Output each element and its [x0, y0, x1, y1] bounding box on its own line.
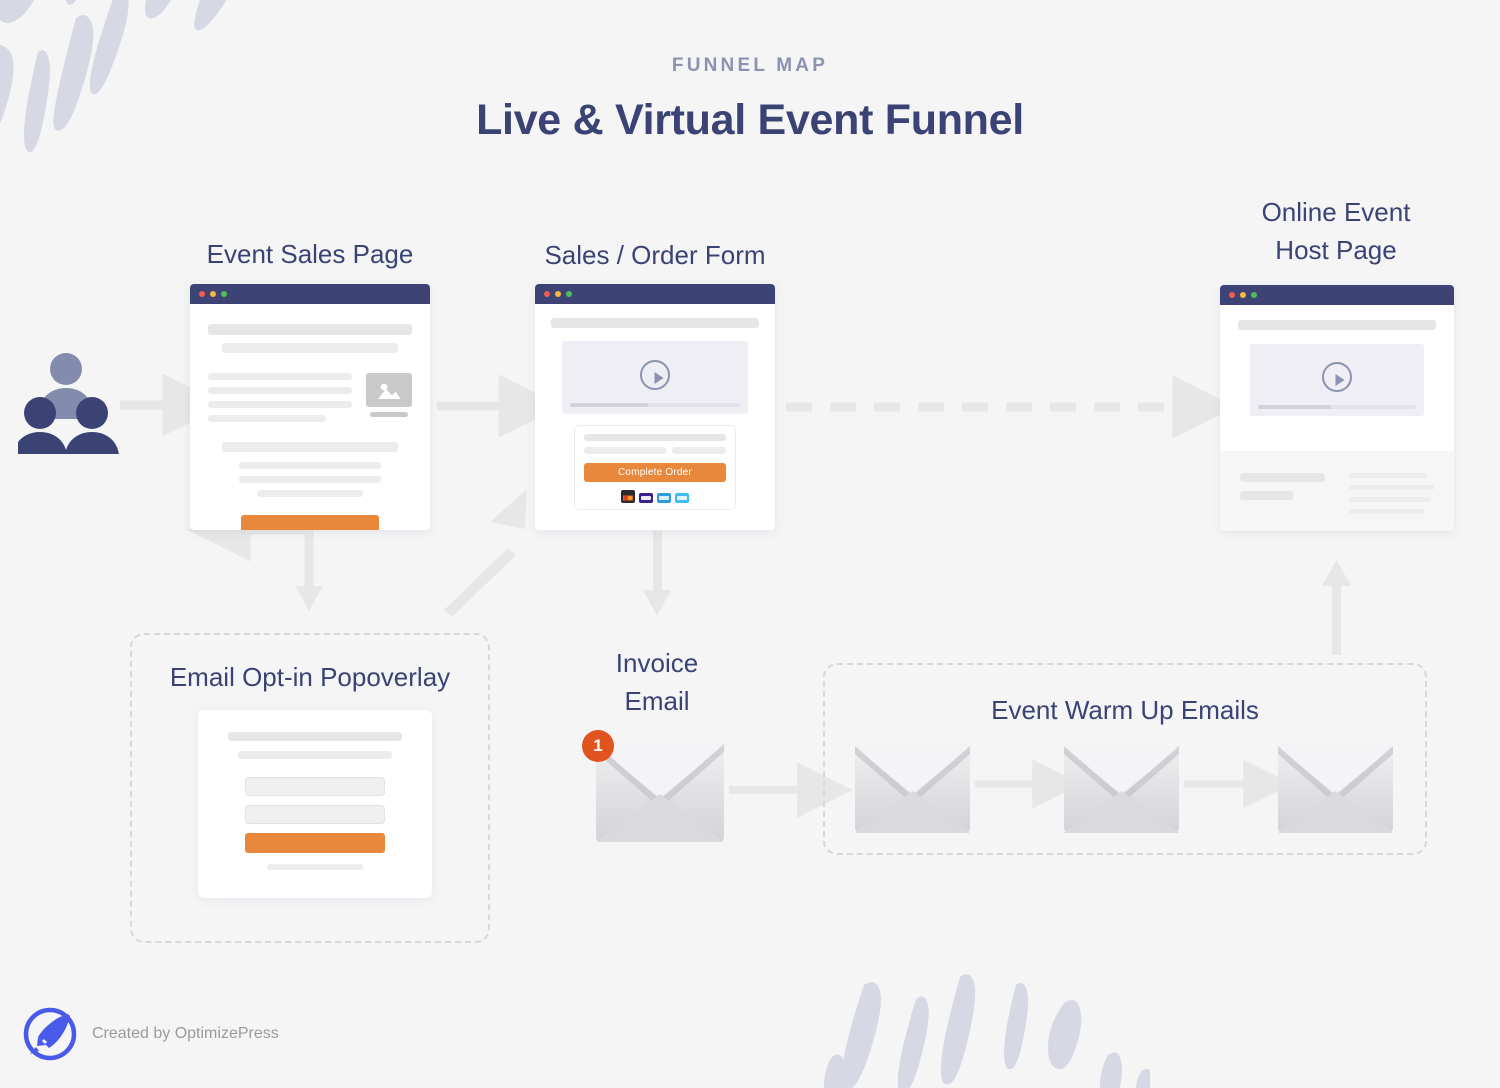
caption-placeholder: [370, 412, 408, 417]
subheadline-placeholder: [222, 343, 397, 353]
invoice-email-badge: 1: [582, 730, 614, 762]
email-optin-popoverlay-label: Email Opt-in Popoverlay: [130, 662, 490, 693]
popup-subheadline-placeholder: [238, 751, 391, 759]
name-field[interactable]: [245, 777, 386, 796]
payment-method-icons: [584, 490, 726, 500]
headline-placeholder: [551, 318, 759, 328]
video-progress-track[interactable]: [1258, 405, 1416, 409]
arrow-order-form-to-invoice-email: [643, 531, 671, 616]
browser-titlebar: [535, 284, 775, 304]
text-line: [208, 373, 352, 380]
green-dot-icon: [1251, 292, 1257, 298]
people-icon: [18, 352, 126, 454]
video-progress-fill: [1258, 405, 1331, 409]
yellow-dot-icon: [1240, 292, 1246, 298]
paypal-icon: [675, 490, 689, 500]
invoice-email-envelope[interactable]: [596, 742, 724, 842]
play-triangle-icon: [1336, 374, 1345, 386]
email-field[interactable]: [245, 805, 386, 824]
section-heading-placeholder: [222, 442, 397, 452]
order-field: [672, 447, 727, 454]
text-line: [239, 462, 382, 469]
invoice-email-label-line2: Email: [557, 683, 757, 721]
browser-content: Complete Order: [535, 304, 775, 524]
yellow-dot-icon: [555, 291, 561, 297]
host-page-label-line1: Online Event: [1186, 194, 1486, 232]
green-dot-icon: [221, 291, 227, 297]
invoice-email-label: Invoice Email: [557, 645, 757, 720]
footer: Created by OptimizePress: [22, 1006, 279, 1062]
amex-icon: [657, 490, 671, 500]
text-line: [257, 490, 363, 497]
page-title: Live & Virtual Event Funnel: [0, 96, 1500, 145]
order-summary-card: Complete Order: [574, 425, 736, 510]
footer-line: [1240, 491, 1293, 500]
order-field: [584, 447, 666, 454]
privacy-note-placeholder: [267, 864, 363, 870]
host-page-label-line2: Host Page: [1186, 232, 1486, 270]
online-event-host-page-label: Online Event Host Page: [1186, 194, 1486, 269]
footer-line: [1349, 473, 1427, 478]
cta-button[interactable]: [241, 515, 380, 530]
event-sales-page-browser-mockup[interactable]: [190, 284, 430, 530]
footer-credit: Created by OptimizePress: [92, 1025, 279, 1043]
mastercard-icon: [621, 490, 635, 500]
warm-up-email-3[interactable]: [1278, 745, 1393, 833]
red-dot-icon: [1229, 292, 1235, 298]
event-sales-page-label: Event Sales Page: [160, 236, 460, 274]
footer-line: [1349, 497, 1431, 502]
arrow-warmup-to-host-page: [1322, 560, 1351, 655]
footer-line: [1240, 473, 1325, 482]
text-line: [208, 387, 352, 394]
footer-line: [1349, 485, 1434, 490]
sales-order-form-label: Sales / Order Form: [505, 237, 805, 275]
video-progress-fill: [570, 403, 648, 407]
footer-line: [1349, 509, 1424, 514]
browser-content: [190, 304, 430, 530]
order-line: [584, 434, 726, 441]
sales-order-form-browser-mockup[interactable]: Complete Order: [535, 284, 775, 530]
rocket-icon: [22, 1006, 78, 1062]
warm-up-email-1[interactable]: [855, 745, 970, 833]
text-line: [208, 415, 326, 422]
text-line: [239, 476, 382, 483]
browser-titlebar: [1220, 285, 1454, 305]
video-placeholder[interactable]: [1250, 344, 1424, 416]
green-dot-icon: [566, 291, 572, 297]
headline-placeholder: [1238, 320, 1436, 330]
invoice-email-label-line1: Invoice: [557, 645, 757, 683]
online-event-host-page-browser-mockup[interactable]: [1220, 285, 1454, 531]
decorative-scribbles-top-left: [0, 0, 300, 180]
funnel-map-canvas: FUNNEL MAP Live & Virtual Event Funnel: [0, 0, 1500, 1088]
host-page-footer-section: [1220, 451, 1454, 531]
yellow-dot-icon: [210, 291, 216, 297]
text-line: [208, 401, 352, 408]
complete-order-button[interactable]: Complete Order: [584, 463, 726, 482]
video-progress-track[interactable]: [570, 403, 739, 407]
complete-order-label: Complete Order: [584, 463, 726, 482]
email-optin-popup-card[interactable]: [198, 710, 432, 898]
red-dot-icon: [544, 291, 550, 297]
arrow-popoverlay-to-order-form: [444, 489, 527, 617]
event-warm-up-emails-label: Event Warm Up Emails: [823, 695, 1427, 726]
page-kicker: FUNNEL MAP: [0, 55, 1500, 77]
browser-titlebar: [190, 284, 430, 304]
optin-submit-button[interactable]: [245, 833, 386, 853]
arrow-sales-page-to-popoverlay: [247, 530, 323, 611]
headline-placeholder: [208, 324, 412, 335]
image-icon: [366, 373, 412, 407]
decorative-scribbles-bottom-right: [820, 955, 1150, 1088]
visa-icon: [639, 490, 653, 500]
browser-content: [1220, 305, 1454, 416]
red-dot-icon: [199, 291, 205, 297]
video-placeholder[interactable]: [562, 341, 747, 414]
popup-headline-placeholder: [228, 732, 402, 741]
warm-up-email-2[interactable]: [1064, 745, 1179, 833]
play-triangle-icon: [654, 372, 663, 384]
